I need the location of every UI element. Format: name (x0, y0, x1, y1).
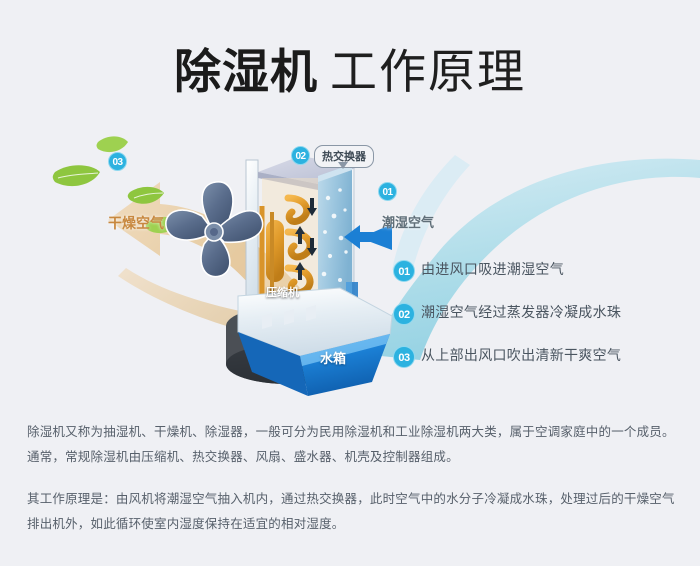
description-block: 除湿机又称为抽湿机、干燥机、除湿器，一般可分为民用除湿机和工业除湿机两大类，属于… (27, 420, 677, 537)
legend-text-01: 由进风口吸进潮湿空气 (421, 259, 564, 279)
page-title-light: 工作原理 (330, 45, 526, 98)
legend-text-02: 潮湿空气经过蒸发器冷凝成水珠 (421, 302, 621, 322)
description-paragraph-2: 其工作原理是：由风机将潮湿空气抽入机内，通过热交换器，此时空气中的水分子冷凝成水… (27, 487, 677, 537)
label-dry-air: 干燥空气 (108, 213, 164, 233)
legend-badge-02: 02 (393, 303, 415, 325)
legend-text-03: 从上部出风口吹出清新干爽空气 (421, 345, 621, 365)
label-humid-air: 潮湿空气 (382, 212, 434, 231)
badge-dry-air: 03 (108, 152, 127, 171)
legend-item-02: 02 潮湿空气经过蒸发器冷凝成水珠 (393, 301, 693, 326)
label-water-tank: 水箱 (320, 348, 346, 367)
description-paragraph-1: 除湿机又称为抽湿机、干燥机、除湿器，一般可分为民用除湿机和工业除湿机两大类，属于… (27, 420, 677, 470)
legend-item-01: 01 由进风口吸进潮湿空气 (393, 258, 693, 283)
legend-list: 01 由进风口吸进潮湿空气 02 潮湿空气经过蒸发器冷凝成水珠 03 从上部出风… (393, 258, 693, 387)
page-title: 除湿机工作原理 (0, 33, 700, 102)
label-compressor: 压缩机 (266, 284, 299, 300)
legend-badge-03: 03 (393, 346, 415, 368)
legend-badge-01: 01 (393, 260, 415, 282)
callout-tail-icon (338, 162, 348, 169)
legend-item-03: 03 从上部出风口吹出清新干爽空气 (393, 344, 693, 369)
page-title-bold: 除湿机 (174, 45, 318, 98)
badge-humid-air: 01 (378, 182, 397, 201)
badge-heat-exchanger: 02 (291, 146, 310, 165)
